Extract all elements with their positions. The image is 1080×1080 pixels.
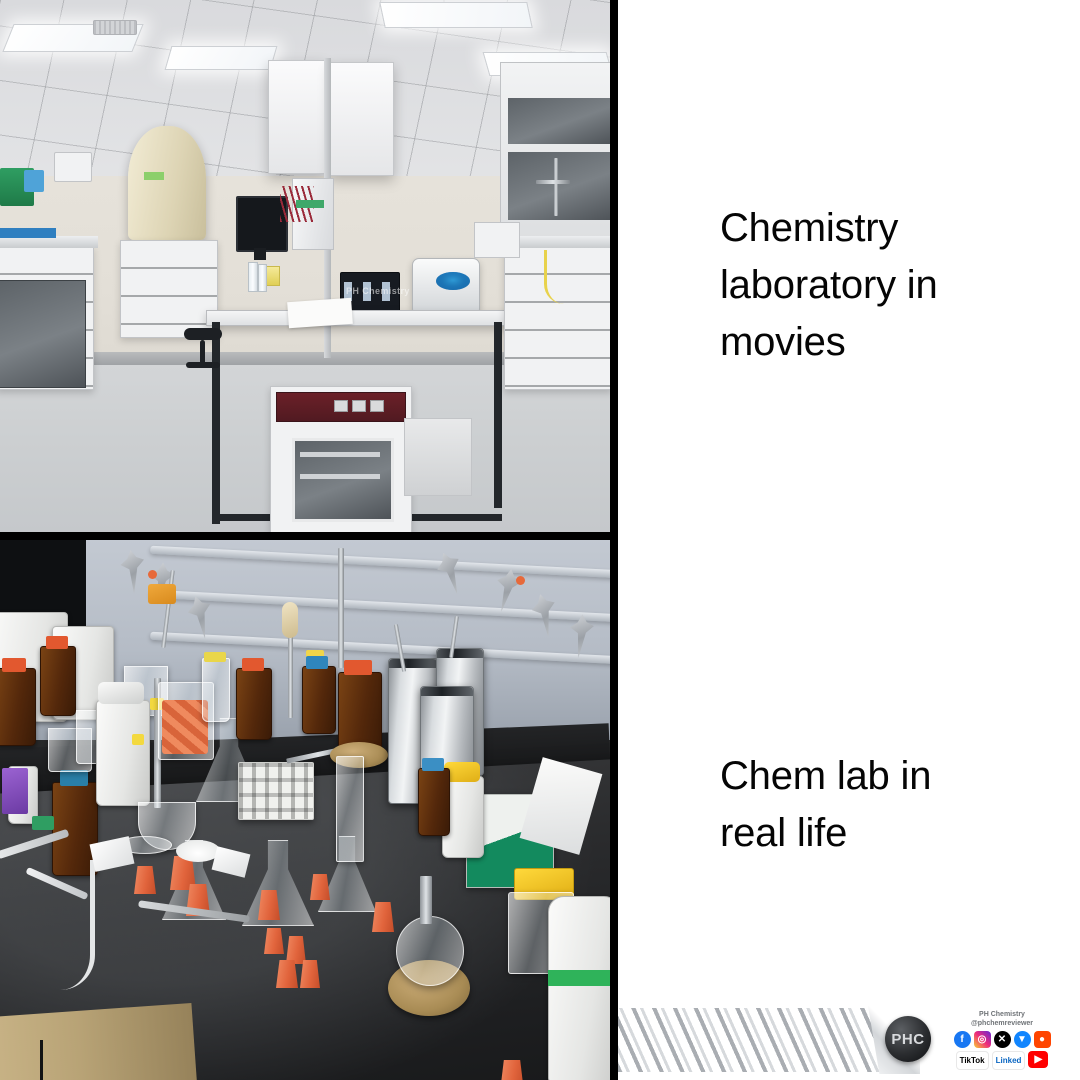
reagent-bottle-amber [0, 668, 36, 746]
bench-leg [212, 322, 220, 524]
reagent-bottle-amber [418, 768, 450, 836]
tall-cylinder [336, 756, 364, 862]
social-handle-block: PH Chemistry @phchemreviewer f ◎ ✕ ▼ ● T… [936, 1010, 1068, 1070]
bottle-cap [46, 636, 68, 649]
rubber-stopper [258, 890, 280, 920]
wall-cabinet-left [268, 60, 326, 174]
bottle-cap-purple [2, 768, 28, 814]
oven-button [352, 400, 366, 412]
oven-shelf [300, 474, 380, 479]
phc-logo-text: PHC [891, 1031, 924, 1048]
caption-movies: Chemistry laboratory in movies [720, 200, 938, 371]
caption-panel-top: Chemistry laboratory in movies [618, 0, 1080, 532]
rubber-stopper [134, 866, 156, 894]
bottle-cap-green [32, 816, 54, 830]
account-handle: @phchemreviewer [936, 1019, 1068, 1028]
reagent-bottle-amber [302, 666, 336, 734]
youtube-icon[interactable]: ▶ [1028, 1051, 1048, 1068]
dispenser-bottle [96, 700, 150, 806]
rubber-stopper [276, 960, 298, 988]
reddit-icon[interactable]: ● [1034, 1031, 1051, 1048]
bottle-cap-teal [60, 770, 88, 786]
green-tray [296, 200, 324, 208]
rubber-stopper [372, 902, 394, 932]
bottle-cap [242, 658, 264, 671]
fume-hood-interior [508, 152, 610, 220]
caption-real-life: Chem lab in real life [720, 748, 931, 862]
left-appliance [0, 280, 86, 388]
hanging-cloth-blue [24, 170, 44, 192]
meme-canvas: PH Chemistry [0, 0, 1080, 1080]
ceiling-light [165, 46, 278, 70]
funnel-top [148, 584, 176, 604]
stripe-banner [618, 1008, 890, 1072]
oven-shelf [300, 452, 380, 457]
sample-vials [258, 264, 267, 292]
yellow-tubing [544, 250, 585, 304]
oven-button [334, 400, 348, 412]
beige-instrument [128, 126, 206, 240]
reagent-bottle-amber [40, 646, 76, 716]
centrifuge-panel [436, 272, 470, 290]
brand-watermark: PHC PH Chemistry @phchemreviewer f ◎ ✕ ▼… [618, 1000, 1080, 1080]
bluesky-icon[interactable]: ▼ [1014, 1031, 1031, 1048]
phc-logo-badge[interactable]: PHC [885, 1016, 931, 1062]
waste-bin [404, 418, 472, 496]
wooden-handle [282, 602, 298, 638]
stand-rod [338, 548, 344, 668]
paper-towel-dispenser [54, 152, 92, 182]
ceiling-vent [93, 20, 137, 35]
blue-tray [0, 228, 56, 238]
retort-stand-rod [554, 158, 558, 216]
bench-paper [287, 298, 353, 328]
linkedin-icon[interactable]: Linked [992, 1051, 1026, 1070]
rubber-stopper [310, 874, 330, 900]
measuring-cylinder [202, 658, 230, 722]
photo-panel-movie-lab: PH Chemistry [0, 0, 610, 532]
black-cable [40, 1040, 127, 1080]
lab-stool-base [186, 362, 220, 368]
instrument-label [144, 172, 164, 180]
facebook-icon[interactable]: f [954, 1031, 971, 1048]
wall-cabinet-right [330, 62, 394, 176]
rubber-stopper [264, 928, 284, 954]
x-twitter-icon[interactable]: ✕ [994, 1031, 1011, 1048]
burette-tap-yellow [132, 734, 144, 745]
instrument-cabinet [120, 240, 218, 338]
bench-leg [494, 322, 502, 508]
fume-hood-sash [508, 98, 610, 144]
oven-button [370, 400, 384, 412]
retort-clamp [536, 180, 570, 184]
caption-panel-bottom: Chem lab in real life PHC PH Chemistry @… [618, 540, 1080, 1080]
small-pump [474, 222, 520, 258]
messy-lab-photo [0, 540, 610, 1080]
social-row-primary: f ◎ ✕ ▼ ● [936, 1031, 1068, 1048]
rubber-stopper [500, 1060, 524, 1080]
test-tube-rack [238, 762, 314, 820]
sample-vials [248, 262, 258, 292]
tiktok-icon[interactable]: TikTok [956, 1051, 989, 1070]
oven-window [292, 438, 394, 522]
horizontal-divider [0, 532, 618, 540]
dispenser-head [98, 682, 144, 704]
lab-stool-seat [184, 328, 222, 340]
clamp-knob [516, 576, 525, 585]
bottle-cap [344, 660, 372, 675]
cylinder-cap-yellow [204, 652, 226, 662]
clamp-knob [148, 570, 157, 579]
vertical-divider [610, 0, 618, 1080]
bottle-cap-blue [306, 656, 328, 669]
bottle-cap-blue [422, 758, 444, 771]
ceiling-light [379, 2, 533, 28]
large-carboy [548, 896, 610, 1080]
social-row-secondary: TikTok Linked ▶ [936, 1051, 1068, 1070]
instagram-icon[interactable]: ◎ [974, 1031, 991, 1048]
account-name: PH Chemistry [936, 1010, 1068, 1019]
rubber-stopper [286, 936, 306, 964]
clean-lab-photo: PH Chemistry [0, 0, 610, 532]
lab-bench-top [206, 310, 514, 326]
round-bottom-flask [396, 916, 464, 986]
thermometer [288, 632, 293, 718]
reagent-bottle-amber [236, 668, 272, 740]
long-tube [60, 860, 95, 990]
flask-neck [420, 876, 432, 924]
rubber-stopper [300, 960, 320, 988]
carboy-green-band [548, 970, 610, 986]
photo-watermark: PH Chemistry [346, 286, 410, 296]
monitor-stand [254, 248, 266, 260]
photo-panel-real-lab [0, 540, 610, 1080]
bottle-cap [2, 658, 26, 672]
